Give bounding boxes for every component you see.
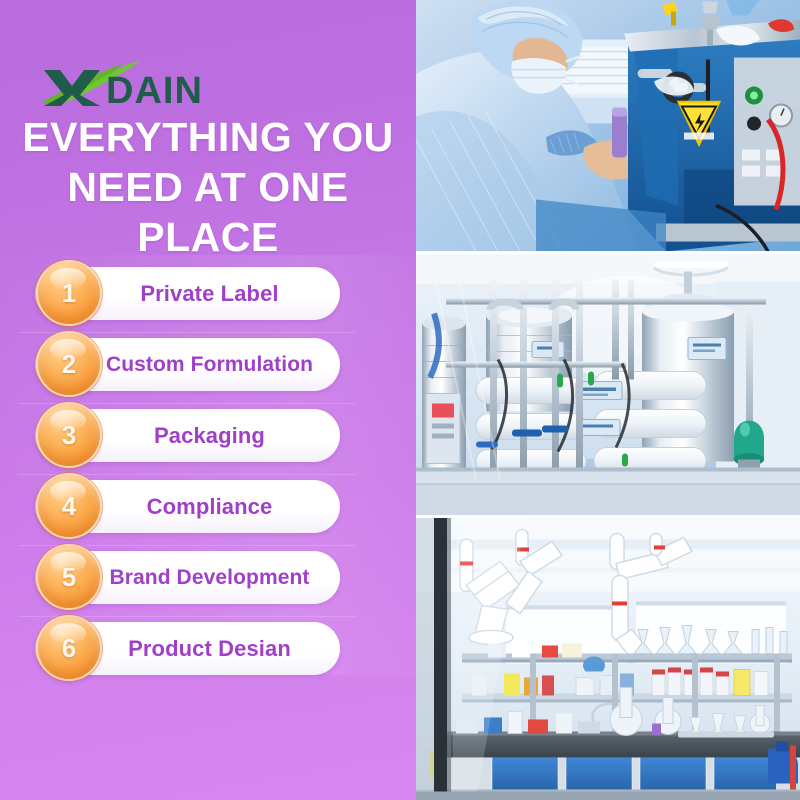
feature-label: Custom Formulation — [106, 354, 313, 375]
feature-label: Packaging — [154, 425, 265, 447]
feature-number: 6 — [62, 635, 76, 661]
headline: EVERYTHING YOU NEED AT ONE PLACE — [0, 112, 416, 262]
feature-number-badge: 1 — [38, 262, 100, 324]
left-content-panel: DAIN EVERYTHING YOU NEED AT ONE PLACE Pr… — [0, 0, 416, 800]
feature-number-badge: 6 — [38, 617, 100, 679]
feature-number: 3 — [62, 422, 76, 448]
promotional-poster: DAIN EVERYTHING YOU NEED AT ONE PLACE Pr… — [0, 0, 800, 800]
feature-row[interactable]: Brand Development 5 — [0, 546, 416, 616]
xdain-logo: DAIN — [36, 56, 256, 112]
feature-label: Brand Development — [109, 567, 309, 588]
feature-row[interactable]: Private Label 1 — [0, 262, 416, 332]
feature-number: 2 — [62, 351, 76, 377]
feature-label: Compliance — [147, 496, 273, 518]
feature-number-badge: 4 — [38, 475, 100, 537]
feature-row[interactable]: Packaging 3 — [0, 404, 416, 474]
feature-number-badge: 2 — [38, 333, 100, 395]
feature-number: 4 — [62, 493, 76, 519]
photo-column — [416, 0, 800, 800]
photo-water-purification-system — [416, 254, 800, 515]
feature-number: 1 — [62, 280, 76, 306]
feature-row[interactable]: Custom Formulation 2 — [0, 333, 416, 403]
svg-text:DAIN: DAIN — [106, 70, 203, 112]
headline-line-2: NEED AT ONE PLACE — [0, 162, 416, 262]
feature-label: Product Desian — [128, 638, 291, 660]
feature-number: 5 — [62, 564, 76, 590]
headline-line-1: EVERYTHING YOU — [22, 114, 394, 160]
feature-list: Private Label 1 Custom Formulation 2 Pac… — [0, 262, 416, 688]
feature-number-badge: 5 — [38, 546, 100, 608]
photo-laboratory-through-window — [416, 518, 800, 800]
feature-number-badge: 3 — [38, 404, 100, 466]
feature-label: Private Label — [140, 283, 278, 305]
photo-cleanroom-operator-filling-vials — [416, 0, 800, 251]
feature-row[interactable]: Product Desian 6 — [0, 617, 416, 687]
feature-row[interactable]: Compliance 4 — [0, 475, 416, 545]
